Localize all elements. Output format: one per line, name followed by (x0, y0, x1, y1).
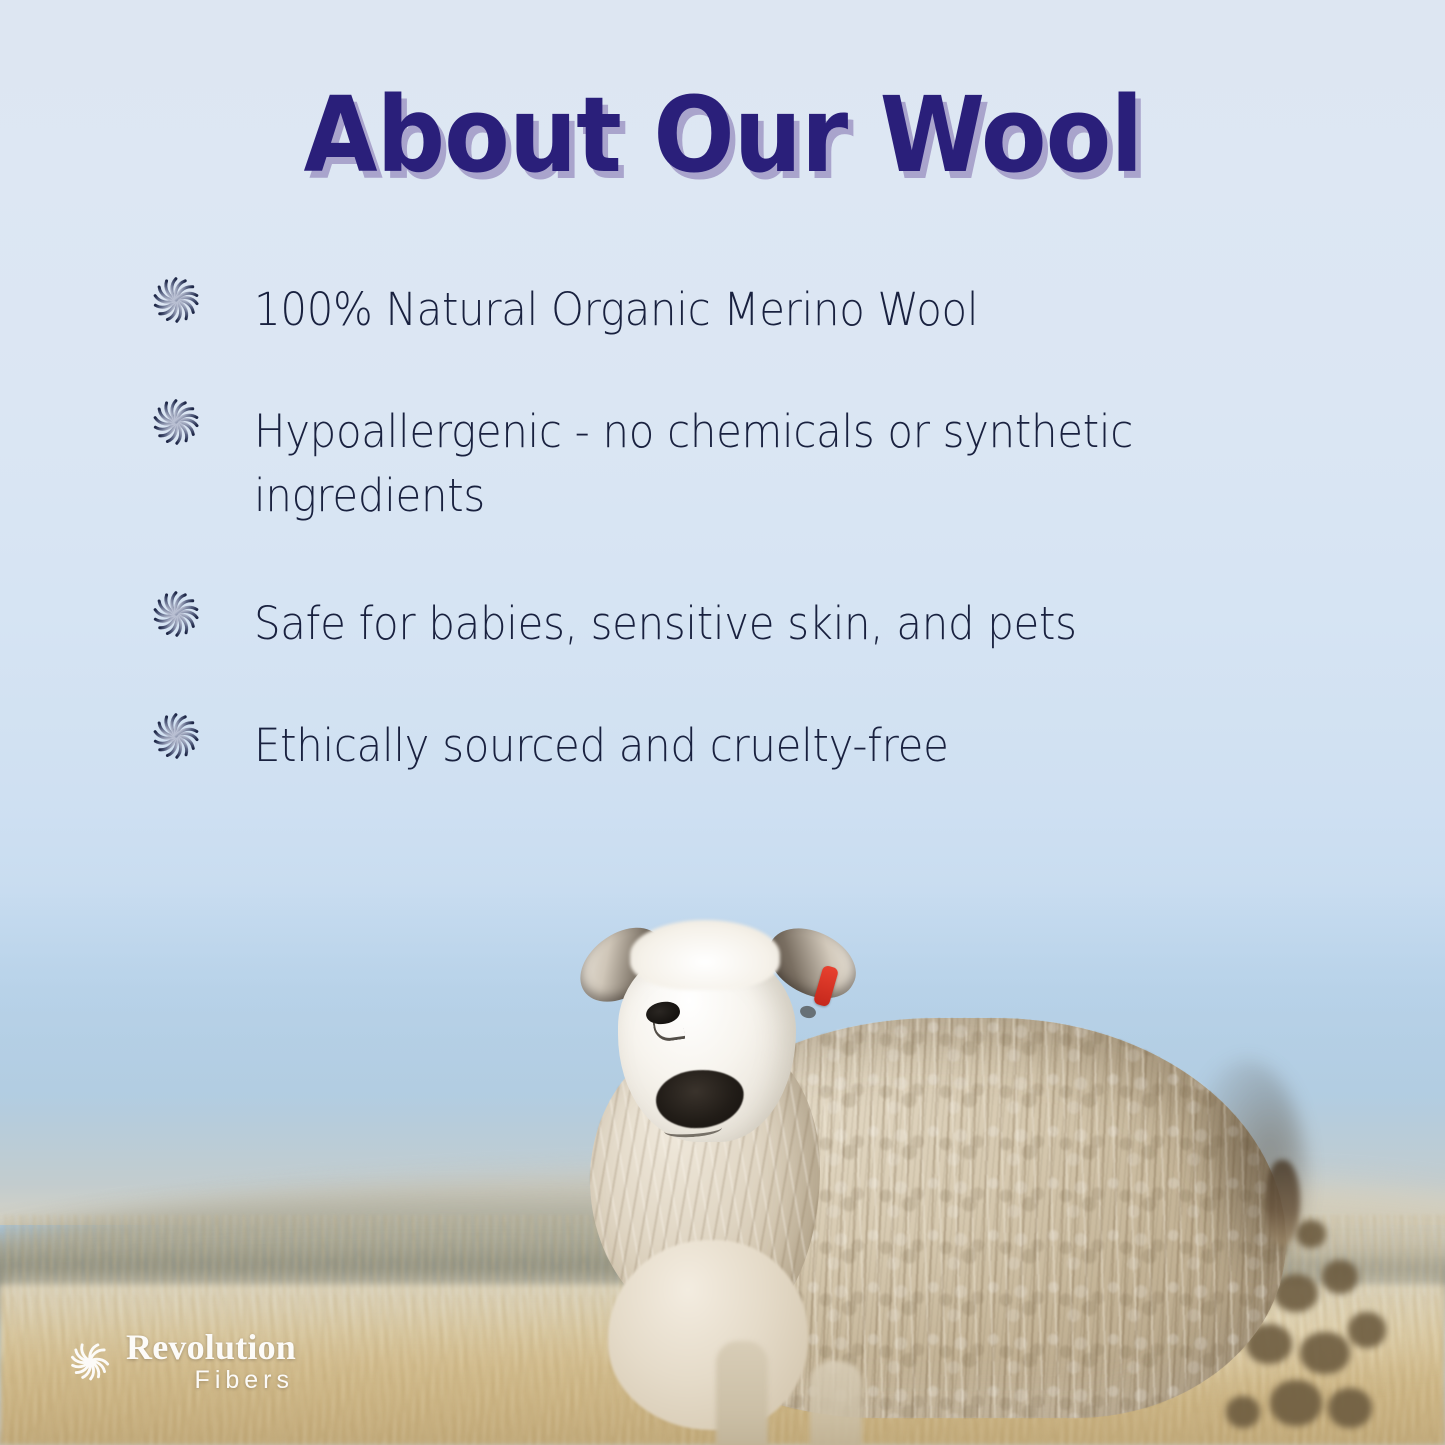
sheep-photo: Revolution Fibers (0, 885, 1445, 1445)
sheep-leg-front (716, 1341, 768, 1445)
sheep-head (560, 910, 860, 1170)
wool-swirl-icon (146, 584, 206, 644)
brand-wordmark: Revolution Fibers (126, 1329, 296, 1393)
list-item-label: 100% Natural Organic Merino Wool (254, 278, 978, 342)
merino-sheep (548, 910, 1318, 1445)
wool-swirl-icon (64, 1335, 116, 1387)
wool-info-poster: Revolution Fibers About Our Wool (0, 0, 1445, 1445)
list-item: Safe for babies, sensitive skin, and pet… (146, 592, 1325, 656)
list-item-label: Safe for babies, sensitive skin, and pet… (254, 592, 1077, 656)
wool-swirl-icon (146, 706, 206, 766)
brand-logo: Revolution Fibers (64, 1329, 296, 1393)
feature-list: 100% Natural Organic Merino Wool (146, 278, 1325, 777)
list-item: 100% Natural Organic Merino Wool (146, 278, 1325, 342)
sheep-leg-back (810, 1361, 862, 1445)
sheep-eye-right (799, 1004, 817, 1019)
brand-line-1: Revolution (126, 1329, 296, 1365)
list-item-label: Hypoallergenic - no chemicals or synthet… (254, 400, 1250, 528)
page-title: About Our Wool (303, 82, 1142, 188)
list-item: Hypoallergenic - no chemicals or synthet… (146, 400, 1325, 528)
list-item-label: Ethically sourced and cruelty-free (254, 714, 949, 778)
brand-line-2: Fibers (126, 1368, 296, 1393)
sheep-chest (608, 1240, 808, 1430)
wool-swirl-icon (146, 270, 206, 330)
wool-swirl-icon (146, 392, 206, 452)
page-title-container: About Our Wool (0, 82, 1445, 188)
list-item: Ethically sourced and cruelty-free (146, 714, 1325, 778)
sheep-topknot (630, 920, 780, 990)
